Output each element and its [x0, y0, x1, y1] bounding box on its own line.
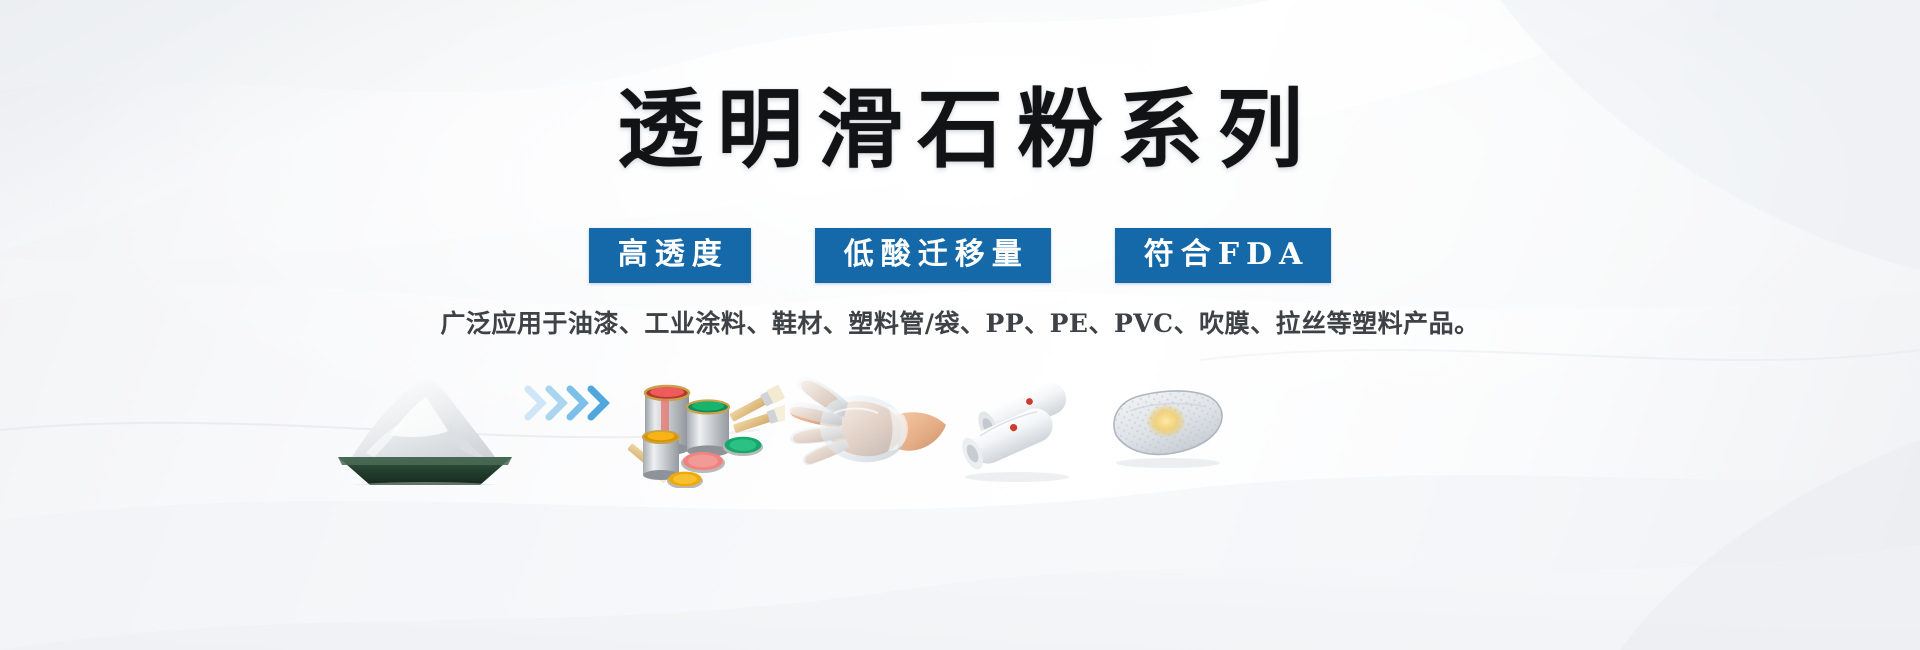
application-description: 广泛应用于油漆、工业涂料、鞋材、塑料管/袋、PP、PE、PVC、吹膜、拉丝等塑料…: [0, 307, 1920, 341]
feature-badge-low-acid-migration[interactable]: 低酸迁移量: [815, 228, 1051, 283]
feature-badge-list: 高透度 低酸迁移量 符合FDA: [0, 228, 1920, 283]
product-application-strip: [310, 355, 1250, 490]
page-title: 透明滑石粉系列: [0, 78, 1920, 182]
feature-badge-high-transparency[interactable]: 高透度: [589, 228, 751, 283]
product-paint-cans: [625, 363, 785, 488]
product-plastic-glove-hand: [788, 369, 948, 484]
feature-badge-fda-compliant[interactable]: 符合FDA: [1115, 228, 1332, 283]
product-banner: 透明滑石粉系列 高透度 低酸迁移量 符合FDA 广泛应用于油漆、工业涂料、鞋材、…: [0, 0, 1920, 650]
product-talc-powder-bowl: [330, 365, 520, 485]
product-plastic-film-rolls: [955, 373, 1085, 483]
flow-arrows-icon: [522, 383, 622, 423]
product-shoe-insole: [1100, 367, 1230, 485]
